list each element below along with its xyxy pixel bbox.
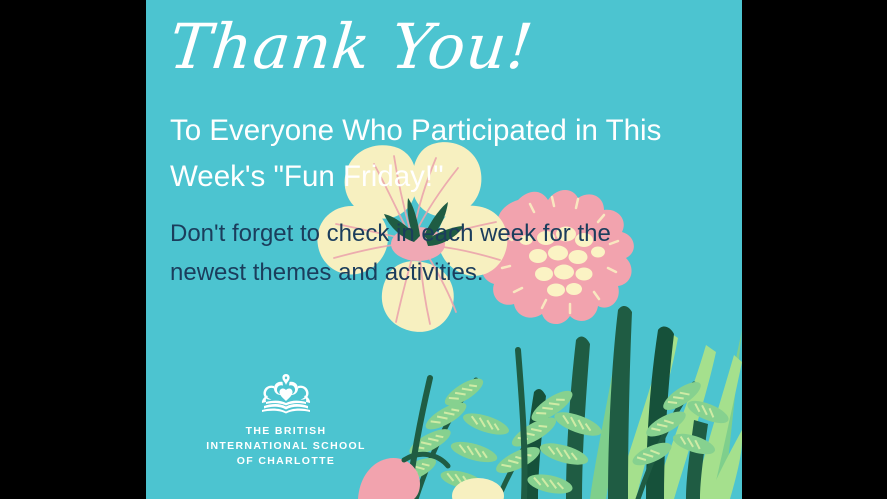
screenshot-canvas: Thank You! To Everyone Who Participated …: [0, 0, 887, 499]
dark-stalk-cluster: [524, 306, 708, 499]
social-post-card: Thank You! To Everyone Who Participated …: [146, 0, 742, 499]
cream-bud-lower: [452, 478, 504, 499]
fern-branch-right: [630, 377, 732, 499]
pink-flower-stem: [518, 350, 525, 499]
school-logo: THE BRITISH INTERNATIONAL SCHOOL OF CHAR…: [191, 372, 381, 470]
fern-leaves-left: [393, 374, 512, 494]
fern-branch-center: [493, 386, 605, 499]
school-name: THE BRITISH INTERNATIONAL SCHOOL OF CHAR…: [191, 424, 381, 470]
subtext: Don't forget to check in each week for t…: [170, 215, 670, 293]
grass-cluster-right: [590, 330, 742, 499]
script-title: Thank You!: [167, 16, 694, 78]
cream-flower-stem: [408, 378, 430, 499]
headline: To Everyone Who Participated in This Wee…: [170, 108, 718, 199]
fern-branch-left: [393, 374, 512, 499]
crown-over-book-icon: [255, 372, 317, 414]
